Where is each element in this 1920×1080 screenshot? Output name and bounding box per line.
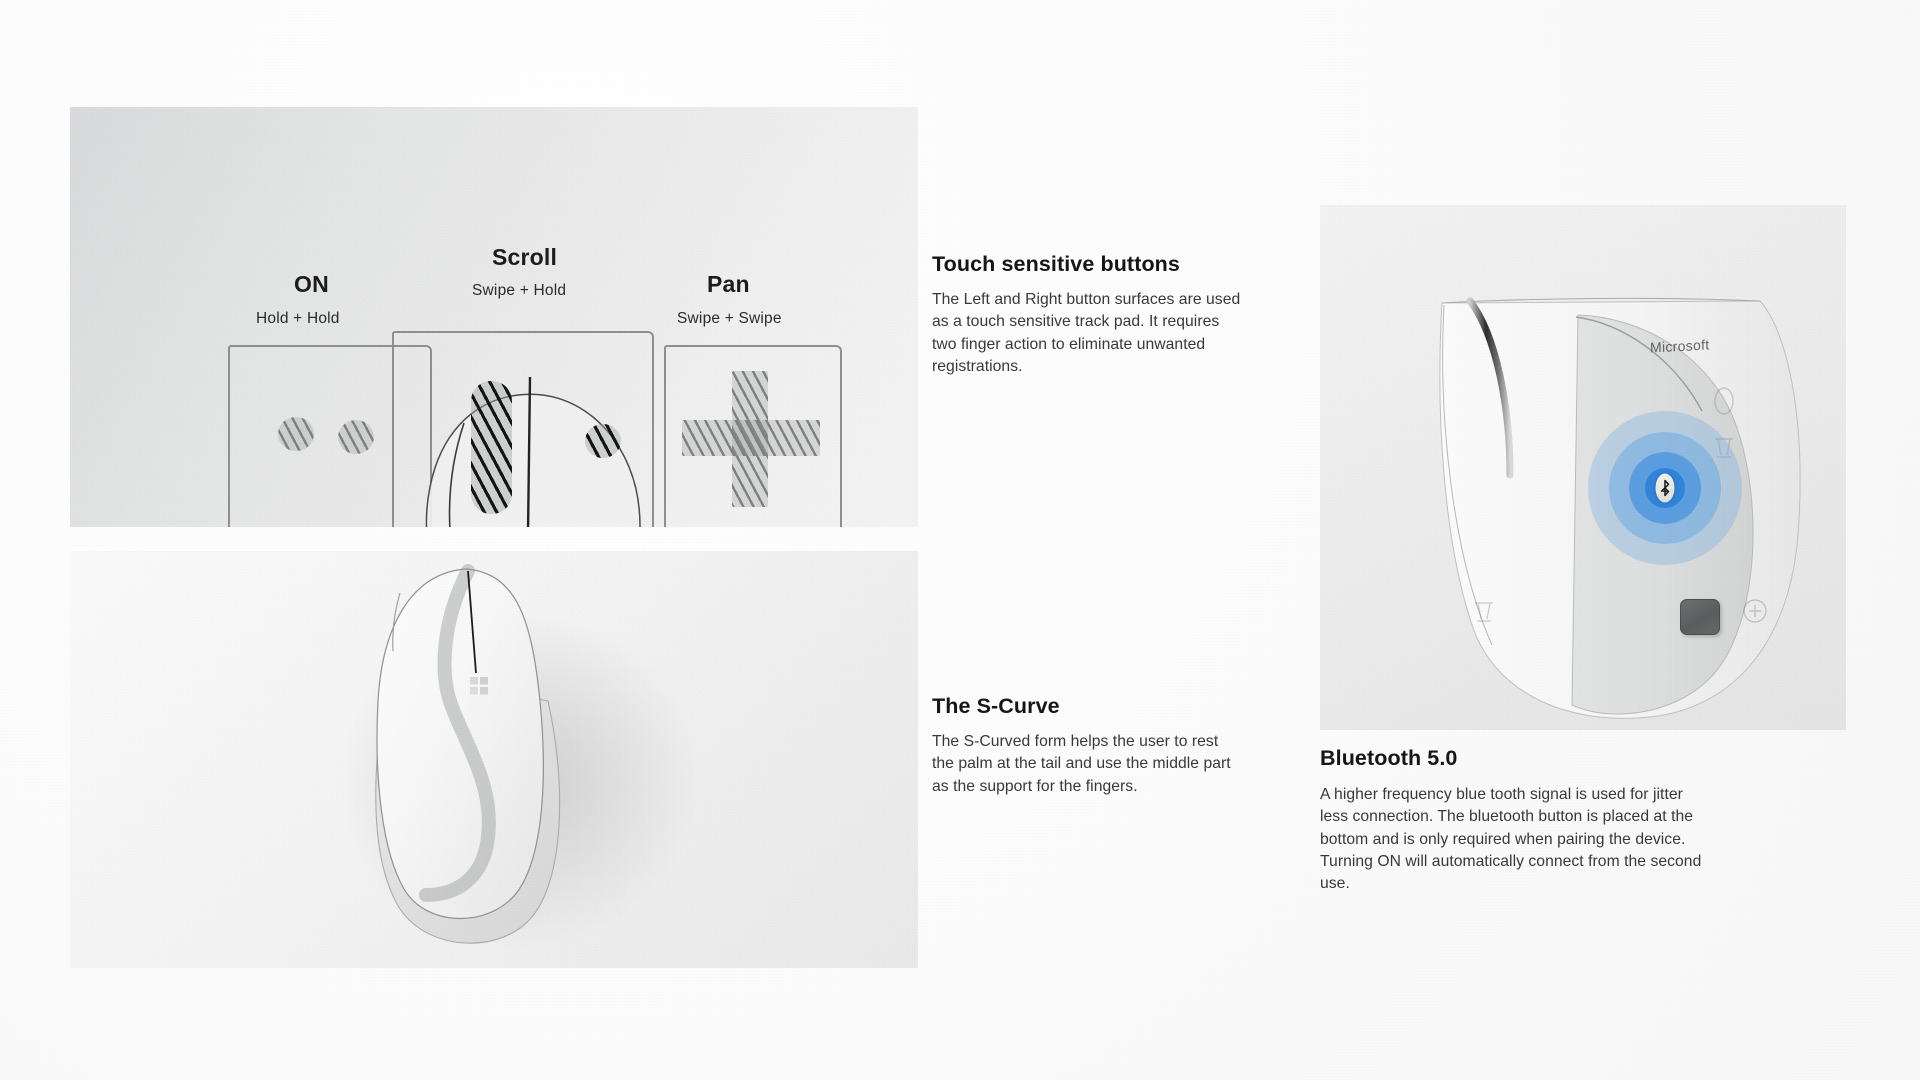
microsoft-wordmark: Microsoft	[1650, 336, 1710, 355]
bluetooth-pairing-indicator	[1588, 411, 1742, 565]
gesture-subtitle-pan: Swipe + Swipe	[677, 310, 782, 328]
caption-body: A higher frequency blue tooth signal is …	[1320, 784, 1712, 895]
s-curve-render-panel	[70, 551, 918, 968]
plus-cross-icon	[680, 369, 822, 509]
bluetooth-render-panel: Microsoft	[1320, 205, 1846, 730]
gesture-title-scroll: Scroll	[492, 244, 557, 271]
mouse-underside-render	[1320, 205, 1846, 730]
gesture-subtitle-on: Hold + Hold	[256, 310, 340, 328]
caption-body: The Left and Right button surfaces are u…	[932, 289, 1244, 378]
bluetooth-icon	[1656, 474, 1675, 503]
gesture-subtitle-scroll: Swipe + Hold	[472, 282, 566, 300]
mouse-top-view-render	[70, 551, 918, 968]
gesture-title-pan: Pan	[707, 271, 750, 298]
caption-body: The S-Curved form helps the user to rest…	[932, 731, 1244, 798]
hold-dot-right-icon	[338, 420, 374, 454]
hold-dot-left-icon	[278, 417, 314, 451]
caption-s-curve: The S-Curve The S-Curved form helps the …	[932, 694, 1244, 798]
caption-touch-sensitive-buttons: Touch sensitive buttons The Left and Rig…	[932, 252, 1244, 378]
bluetooth-pair-button-icon[interactable]	[1680, 599, 1720, 635]
scroll-dot-icon	[585, 424, 621, 458]
gesture-diagram-panel: ON Hold + Hold Scroll Swipe + Hold Pan S…	[70, 107, 918, 527]
presentation-board: ON Hold + Hold Scroll Swipe + Hold Pan S…	[0, 0, 1920, 1080]
caption-bluetooth: Bluetooth 5.0 A higher frequency blue to…	[1320, 746, 1720, 895]
gesture-title-on: ON	[294, 271, 329, 298]
caption-heading: Bluetooth 5.0	[1320, 746, 1720, 771]
scroll-strip-icon	[471, 381, 512, 514]
caption-heading: Touch sensitive buttons	[932, 252, 1244, 277]
caption-heading: The S-Curve	[932, 694, 1244, 719]
